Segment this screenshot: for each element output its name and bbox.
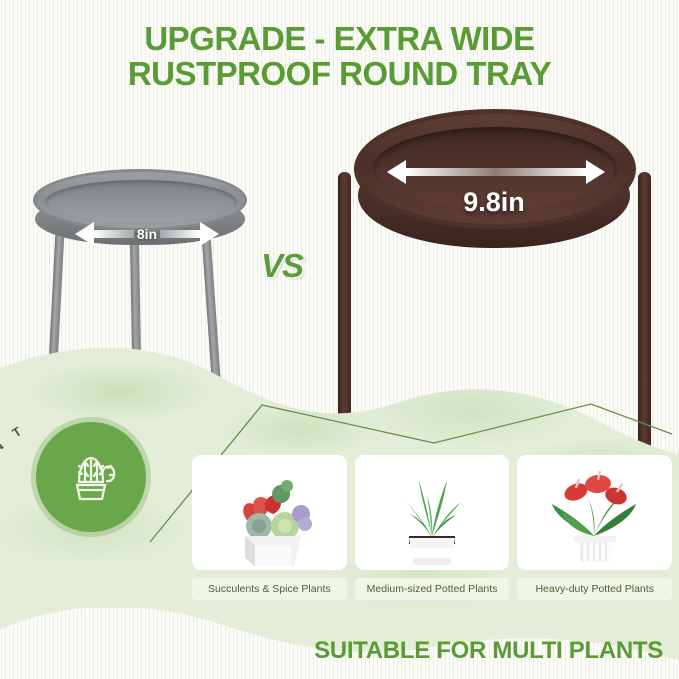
arrow-head-left-icon bbox=[75, 222, 94, 246]
plant-card[interactable]: Medium-sized Potted Plants bbox=[355, 455, 510, 600]
succulents-photo bbox=[192, 455, 347, 570]
arrow-head-right-icon bbox=[200, 222, 219, 246]
product-infographic: UPGRADE - EXTRA WIDE RUSTPROOF ROUND TRA… bbox=[0, 0, 679, 679]
plant-cards: Succulents & Spice Plants bbox=[192, 455, 672, 600]
plant-card[interactable]: Heavy-duty Potted Plants bbox=[517, 455, 672, 600]
badge-char: T bbox=[10, 424, 24, 440]
vs-label: VS bbox=[261, 247, 303, 285]
footer-tagline: SUITABLE FOR MULTI PLANTS bbox=[314, 637, 663, 665]
arrow-head-right-icon-big bbox=[586, 160, 605, 184]
headline-line-1: UPGRADE - EXTRA WIDE bbox=[0, 22, 679, 57]
anthurium-plant-photo bbox=[517, 455, 672, 570]
dimension-label-small: 8in bbox=[137, 226, 157, 242]
plant-card-label: Succulents & Spice Plants bbox=[192, 578, 347, 600]
dimension-arrow-8in: 8in bbox=[52, 222, 242, 246]
arrow-bar-right bbox=[160, 230, 200, 238]
plant-card-label: Medium-sized Potted Plants bbox=[355, 578, 510, 600]
dimension-label-big: 9.8in bbox=[424, 187, 564, 218]
silver-tray-surface bbox=[45, 180, 237, 224]
plant-card-label: Heavy-duty Potted Plants bbox=[517, 578, 672, 600]
dimension-arrow-98in bbox=[358, 157, 633, 187]
arrow-bar-left-big bbox=[406, 168, 496, 176]
page-title: UPGRADE - EXTRA WIDE RUSTPROOF ROUND TRA… bbox=[0, 22, 679, 91]
plant-card[interactable]: Succulents & Spice Plants bbox=[192, 455, 347, 600]
aloe-potted-plant-photo bbox=[355, 455, 510, 570]
cactus-icon bbox=[63, 448, 119, 506]
arrow-bar-right-big bbox=[496, 168, 586, 176]
arrow-bar-left bbox=[94, 230, 134, 238]
headline-line-2: RUSTPROOF ROUND TRAY bbox=[0, 57, 679, 92]
potted-plant-badge: POTTED PLANT bbox=[12, 396, 164, 548]
arrow-head-left-icon-big bbox=[387, 160, 406, 184]
